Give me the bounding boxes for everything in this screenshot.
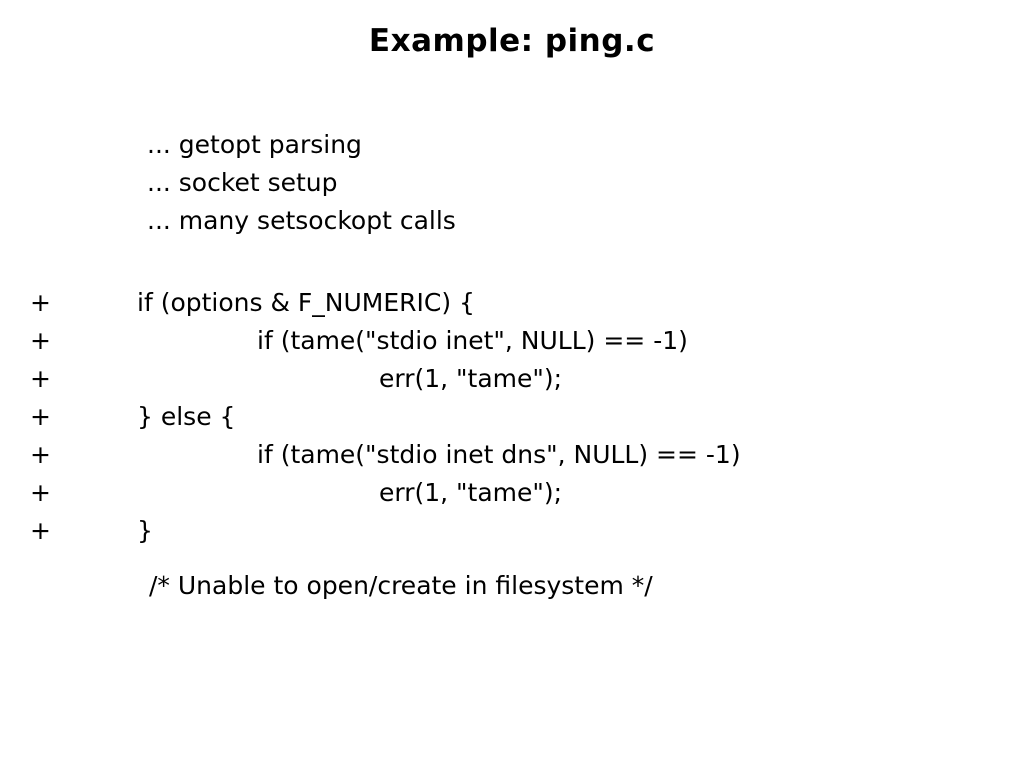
summary-line: ... socket setup bbox=[147, 164, 1007, 202]
diff-added-marker: + bbox=[30, 284, 54, 322]
diff-line: + } else { bbox=[0, 398, 1024, 436]
diff-line: + err(1, "tame"); bbox=[0, 360, 1024, 398]
diff-line: + err(1, "tame"); bbox=[0, 474, 1024, 512]
diff-line-code: } bbox=[137, 512, 153, 550]
diff-line-code: } else { bbox=[137, 398, 235, 436]
diff-line-code: if (options & F_NUMERIC) { bbox=[137, 284, 475, 322]
diff-added-marker: + bbox=[30, 512, 54, 550]
diff-line-code: err(1, "tame"); bbox=[379, 474, 562, 512]
summary-line: ... getopt parsing bbox=[147, 126, 1007, 164]
summary-line: ... many setsockopt calls bbox=[147, 202, 1007, 240]
diff-line: + } bbox=[0, 512, 1024, 550]
diff-added-marker: + bbox=[30, 474, 54, 512]
summary-line-list: ... getopt parsing ... socket setup ... … bbox=[147, 126, 1007, 240]
page-title: Example: ping.c bbox=[0, 24, 1024, 60]
diff-line: + if (tame("stdio inet", NULL) == -1) bbox=[0, 322, 1024, 360]
diff-line-code: err(1, "tame"); bbox=[379, 360, 562, 398]
diff-line-code: if (tame("stdio inet dns", NULL) == -1) bbox=[257, 436, 741, 474]
diff-added-marker: + bbox=[30, 436, 54, 474]
diff-added-marker: + bbox=[30, 360, 54, 398]
diff-line: + if (options & F_NUMERIC) { bbox=[0, 284, 1024, 322]
diff-added-marker: + bbox=[30, 398, 54, 436]
diff-line-code: if (tame("stdio inet", NULL) == -1) bbox=[257, 322, 688, 360]
slide: Example: ping.c ... getopt parsing ... s… bbox=[0, 0, 1024, 768]
diff-added-marker: + bbox=[30, 322, 54, 360]
diff-code-block: + if (options & F_NUMERIC) { + if (tame(… bbox=[0, 284, 1024, 550]
code-comment: /* Unable to open/create in filesystem *… bbox=[149, 567, 653, 605]
diff-line: + if (tame("stdio inet dns", NULL) == -1… bbox=[0, 436, 1024, 474]
